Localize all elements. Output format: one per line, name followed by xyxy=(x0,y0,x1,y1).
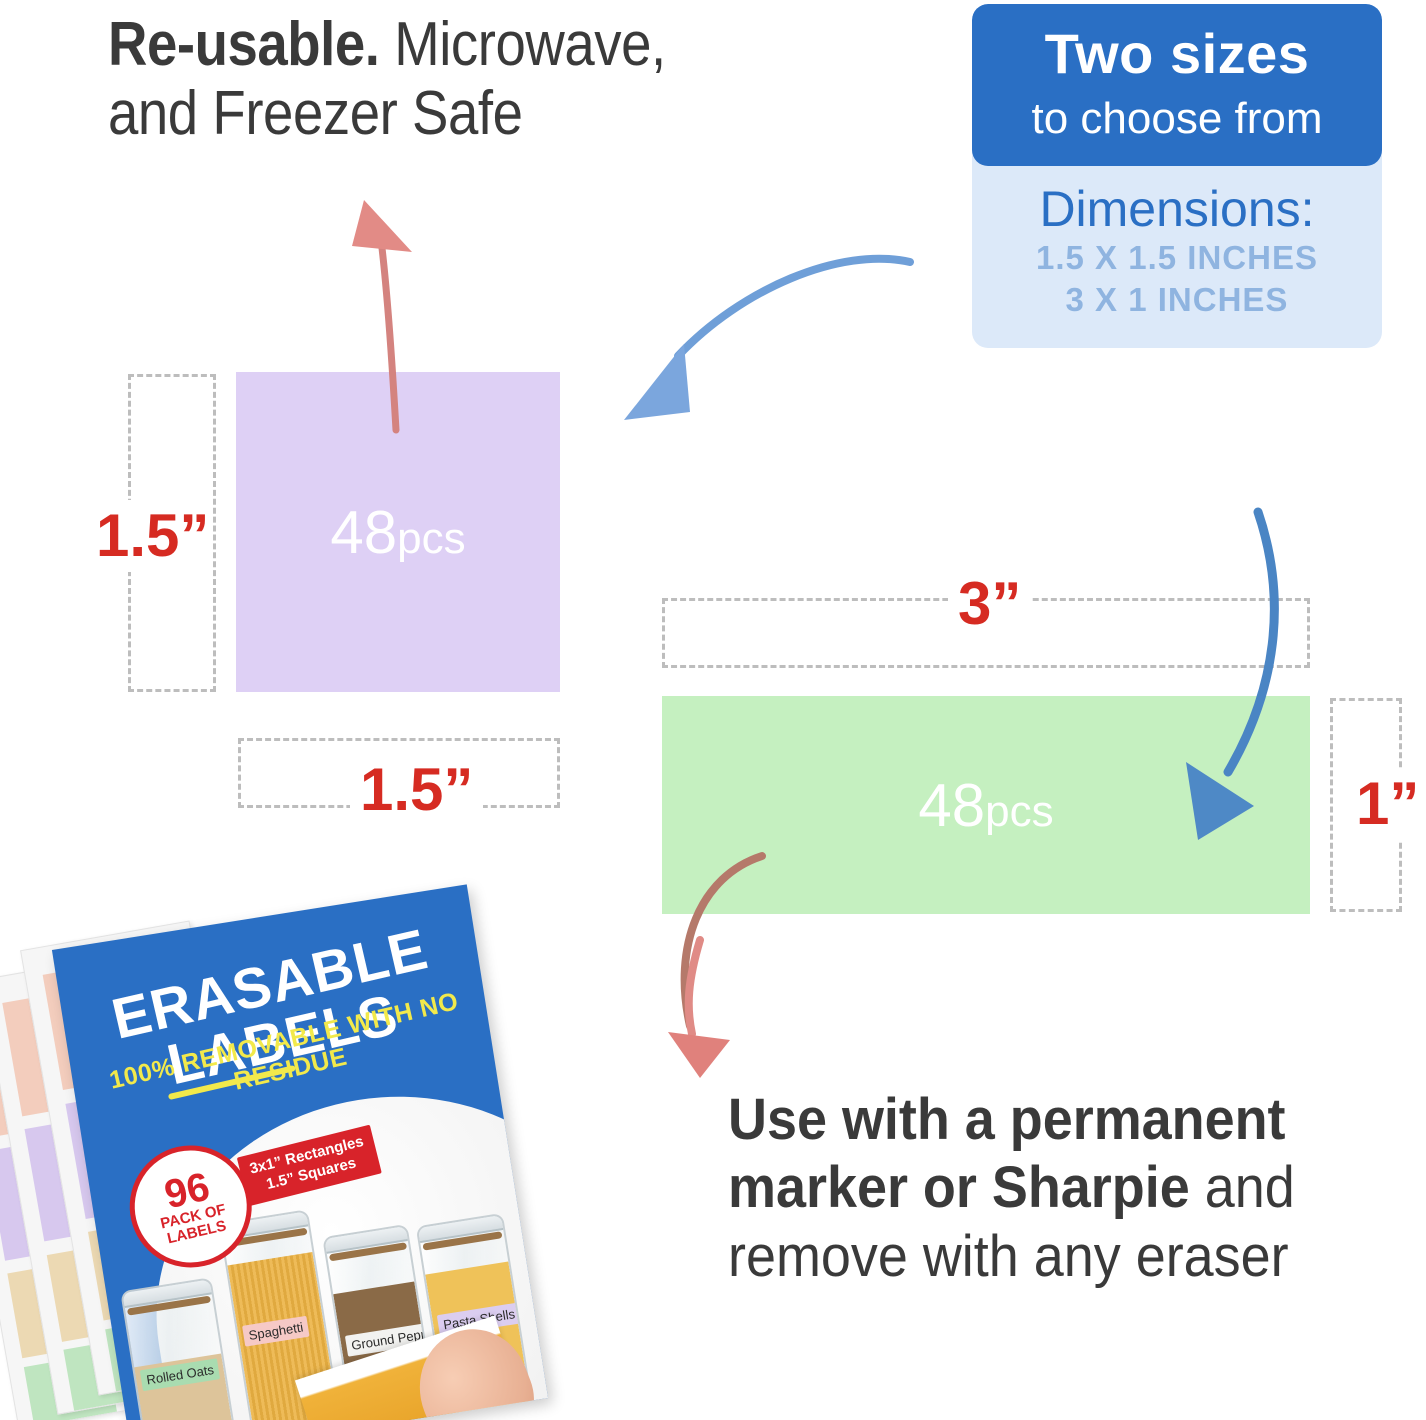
square-count-number: 48 xyxy=(330,499,397,566)
square-swatch-count: 48pcs xyxy=(330,498,465,567)
cta-line1: Use with a permanent xyxy=(728,1087,1286,1152)
product-package-photo: ERASABLE LABELS 100% REMOVABLE WITH NO R… xyxy=(0,880,600,1420)
info-card-title: Two sizes xyxy=(998,26,1356,82)
square-count-unit: pcs xyxy=(397,514,465,563)
blue-arrow-to-square-icon xyxy=(624,259,910,420)
dimensions-label: Dimensions: xyxy=(998,182,1356,237)
package-front: ERASABLE LABELS 100% REMOVABLE WITH NO R… xyxy=(52,884,548,1420)
infographic-canvas: Re-usable. Microwave, and Freezer Safe T… xyxy=(0,0,1426,1420)
headline-rest: Microwave, xyxy=(380,10,666,79)
two-sizes-info-card: Two sizes to choose from Dimensions: 1.5… xyxy=(972,4,1382,348)
headline: Re-usable. Microwave, and Freezer Safe xyxy=(108,10,706,149)
cta-text: Use with a permanent marker or Sharpie a… xyxy=(728,1086,1370,1291)
rectangle-label-swatch: 48pcs xyxy=(662,696,1310,914)
rectangle-swatch-count: 48pcs xyxy=(918,771,1053,840)
label-square-height: 1.5” xyxy=(92,500,213,572)
square-label-swatch: 48pcs xyxy=(236,372,560,692)
label-square-width: 1.5” xyxy=(350,756,483,824)
rectangle-count-number: 48 xyxy=(918,772,985,839)
dimension-option-1: 1.5 X 1.5 INCHES xyxy=(998,237,1356,279)
dimension-option-2: 3 X 1 INCHES xyxy=(998,279,1356,321)
cta-line2-bold: marker or Sharpie xyxy=(728,1155,1190,1220)
cta-line2-rest: and xyxy=(1190,1155,1295,1220)
label-rectangle-height: 1” xyxy=(1352,768,1423,840)
info-card-body: Dimensions: 1.5 X 1.5 INCHES 3 X 1 INCHE… xyxy=(972,166,1382,347)
cta-line3: remove with any eraser xyxy=(728,1224,1289,1289)
label-rectangle-width: 3” xyxy=(948,570,1031,638)
info-card-header: Two sizes to choose from xyxy=(972,4,1382,166)
info-card-subtitle: to choose from xyxy=(998,96,1356,142)
rectangle-count-unit: pcs xyxy=(985,787,1053,836)
headline-bold: Re-usable. xyxy=(108,10,380,79)
headline-line2: and Freezer Safe xyxy=(108,79,523,148)
